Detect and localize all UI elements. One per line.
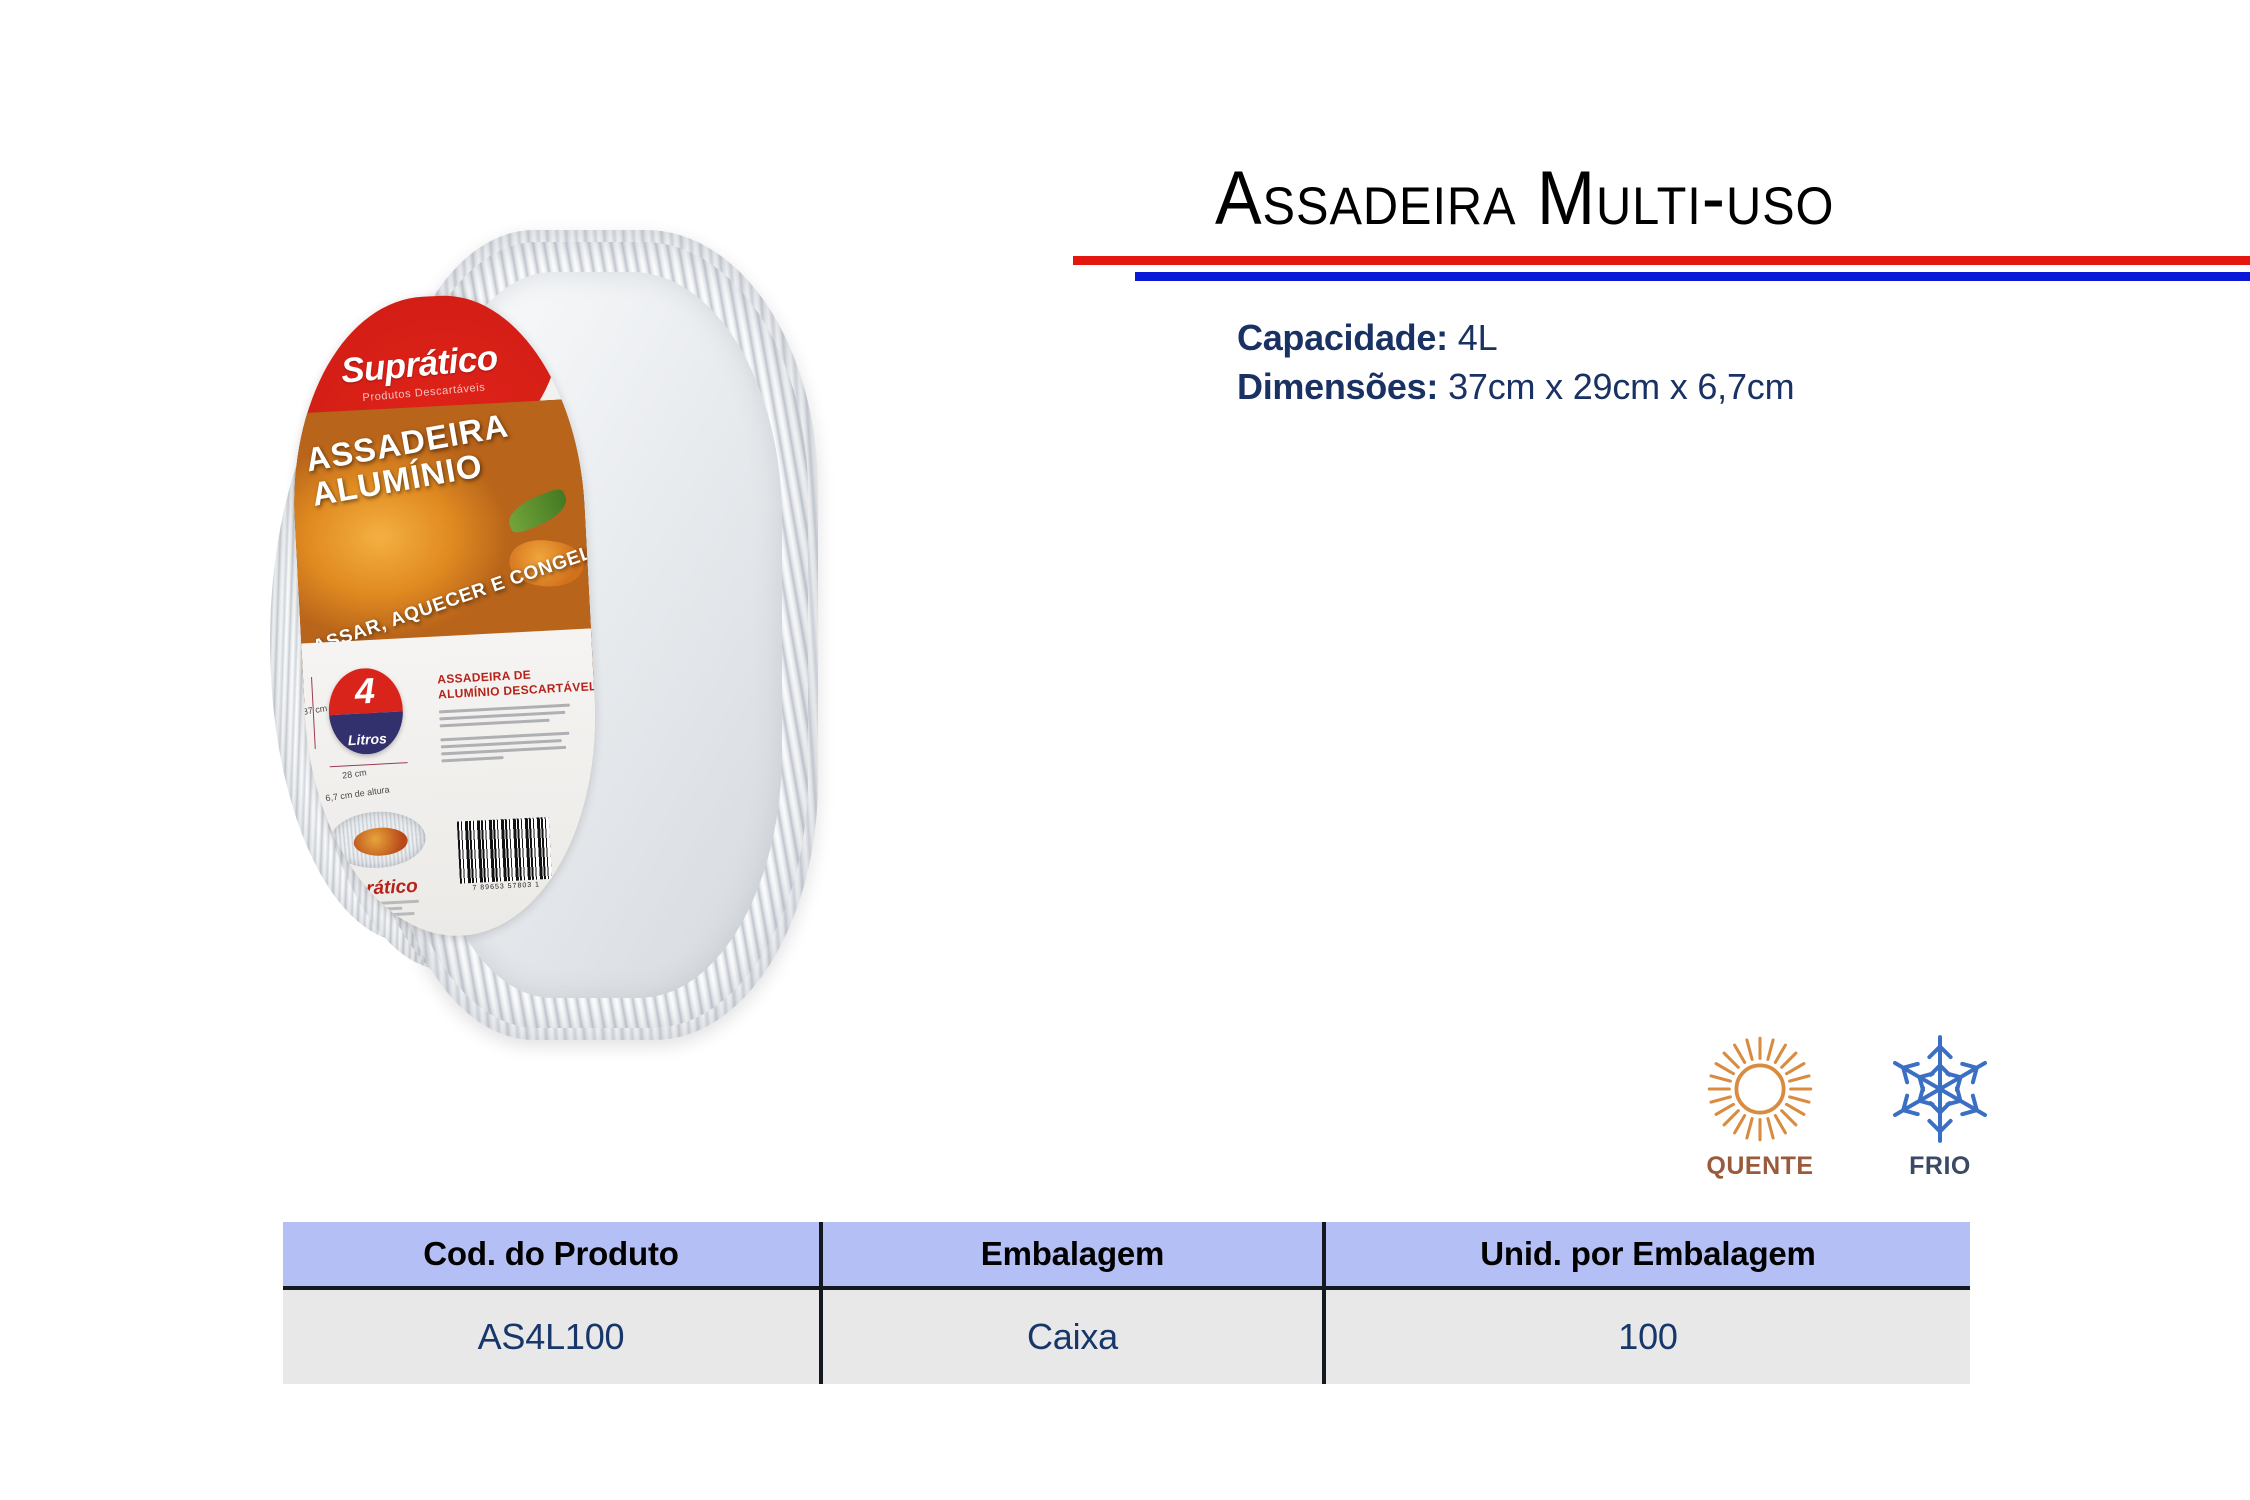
cold-usage-indicator: FRIO: [1870, 1030, 2010, 1181]
badge-number: 4: [327, 668, 403, 714]
label-pan-illustration: [328, 809, 427, 870]
product-datasheet-page: Suprático Produtos Descartáveis ASSADEIR…: [0, 0, 2250, 1500]
cold-usage-label: FRIO: [1870, 1152, 2010, 1181]
label-dimension-width-line: [330, 762, 408, 767]
food-herb-garnish: [504, 487, 572, 535]
spec-capacity: Capacidade: 4L: [1237, 313, 1794, 362]
table-row: AS4L100 Caixa 100: [283, 1288, 1970, 1384]
label-barcode: [457, 817, 552, 884]
hot-usage-indicator: QUENTE: [1690, 1030, 1830, 1181]
cell-product-code: AS4L100: [283, 1288, 821, 1384]
hot-usage-label: QUENTE: [1690, 1152, 1830, 1181]
label-info-panel: 37 cm 4 Litros 28 cm 6,7 cm de altura Su…: [301, 628, 606, 943]
packaging-table: Cod. do Produto Embalagem Unid. por Emba…: [283, 1222, 1970, 1384]
snowflake-icon: [1881, 1030, 1999, 1148]
page-title: Assadeira Multi-uso: [1215, 155, 1834, 242]
column-header-units-per-package: Unid. por Embalagem: [1324, 1222, 1970, 1288]
label-legal-text: [331, 899, 428, 928]
temperature-icon-group: QUENTE: [1690, 1030, 2020, 1215]
spec-capacity-value: 4L: [1458, 317, 1498, 358]
column-header-packaging: Embalagem: [821, 1222, 1324, 1288]
cell-units-per-package: 100: [1324, 1288, 1970, 1384]
product-photo: Suprático Produtos Descartáveis ASSADEIR…: [270, 110, 910, 1190]
label-description-title: ASSADEIRA DE ALUMÍNIO DESCARTÁVEL: [437, 664, 597, 702]
label-bottom-logo: Suprático: [330, 876, 419, 903]
label-description-body: [439, 703, 576, 766]
spec-dimensions-value: 37cm x 29cm x 6,7cm: [1448, 366, 1794, 407]
label-dimension-width: 28 cm: [342, 767, 368, 780]
specification-list: Capacidade: 4L Dimensões: 37cm x 29cm x …: [1237, 313, 1794, 412]
label-dimension-depth: 6,7 cm de altura: [325, 784, 390, 803]
spec-dimensions: Dimensões: 37cm x 29cm x 6,7cm: [1237, 362, 1794, 411]
aluminium-pan-stack: Suprático Produtos Descartáveis ASSADEIR…: [270, 230, 830, 1070]
label-capacity-badge: 4 Litros: [327, 666, 405, 756]
title-rule-blue: [1135, 272, 2250, 281]
spec-dimensions-label: Dimensões:: [1237, 366, 1438, 407]
title-rule-red: [1073, 256, 2250, 265]
cell-packaging: Caixa: [821, 1288, 1324, 1384]
label-dimension-height: 37 cm: [302, 703, 328, 717]
sun-icon: [1701, 1030, 1819, 1148]
column-header-product-code: Cod. do Produto: [283, 1222, 821, 1288]
table-header-row: Cod. do Produto Embalagem Unid. por Emba…: [283, 1222, 1970, 1288]
spec-capacity-label: Capacidade:: [1237, 317, 1448, 358]
